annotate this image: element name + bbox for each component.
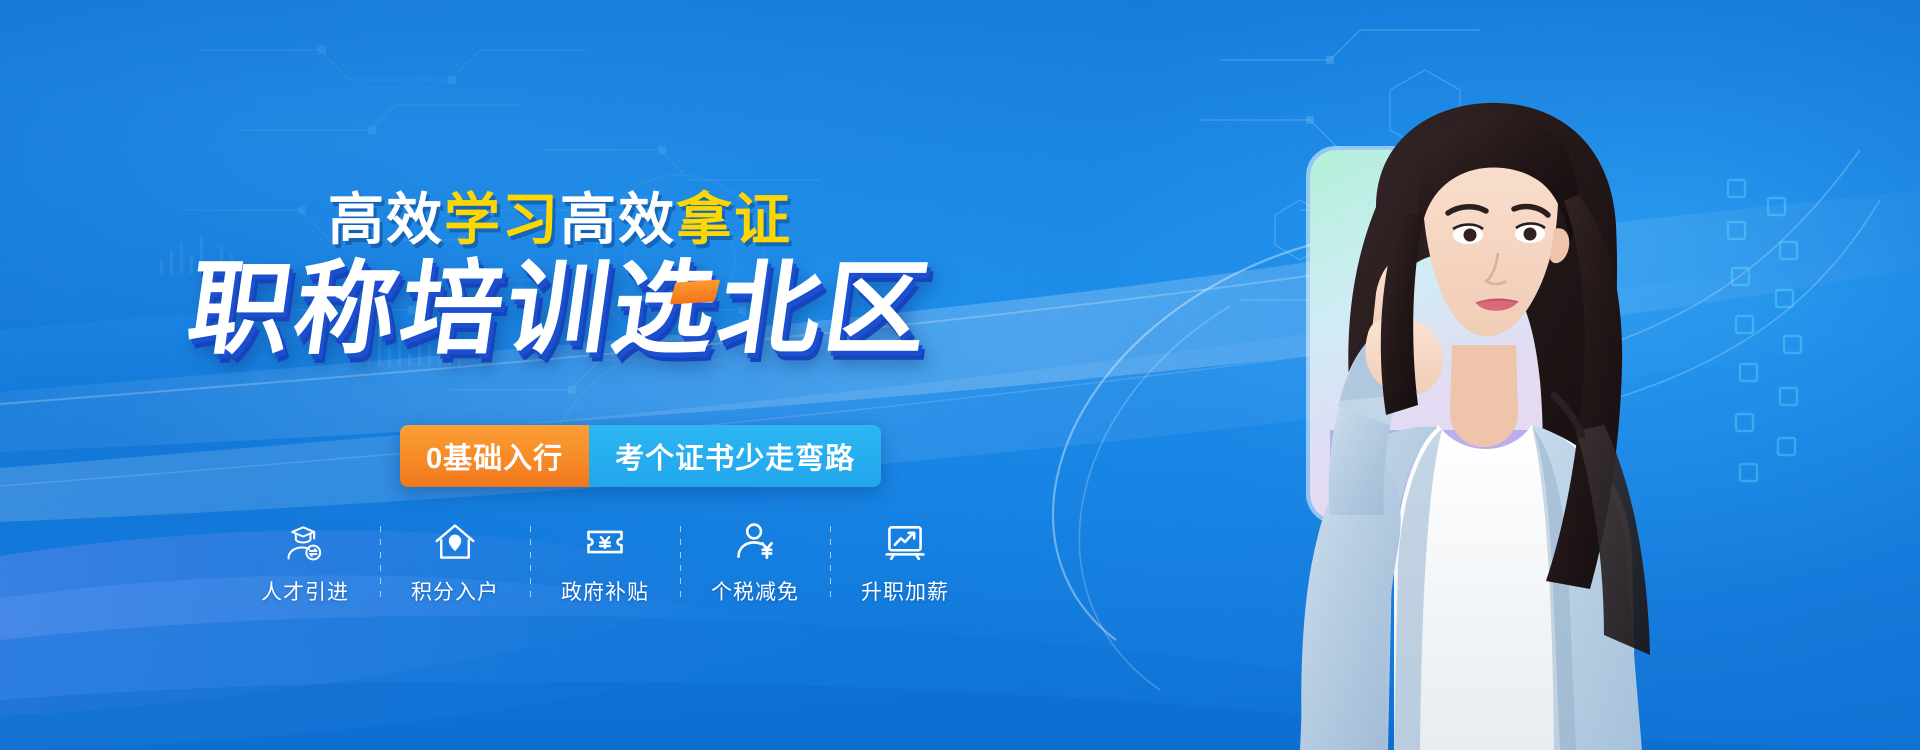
tagline-pill[interactable]: 0基础入行 考个证书少走弯路 xyxy=(400,425,881,487)
graduate-exchange-icon xyxy=(283,520,327,564)
feature-divider-3 xyxy=(680,526,681,600)
instructor-photo xyxy=(1180,95,1740,750)
feature-divider-4 xyxy=(830,526,831,600)
headline-sub-seg-1: 学习 xyxy=(444,188,560,251)
headline-main-text: 职称培训选北区 xyxy=(182,258,938,360)
headline-subtitle: 高效学习高效拿证 xyxy=(0,192,1120,248)
headline-sub-seg-2: 高效 xyxy=(560,188,676,251)
feature-item-promotion[interactable]: 升职加薪 xyxy=(845,520,965,606)
feature-divider-2 xyxy=(530,526,531,600)
banner-content: 高效学习高效拿证 职称培训选北区 0基础入行 考个证书少走弯路 xyxy=(0,0,1120,750)
headline-sub-seg-3: 拿证 xyxy=(676,188,792,251)
tagline-description[interactable]: 考个证书少走弯路 xyxy=(589,425,881,487)
feature-item-residency[interactable]: 积分入户 xyxy=(395,520,515,606)
feature-label-tax: 个税减免 xyxy=(711,576,799,606)
headline-sub-seg-0: 高效 xyxy=(328,188,444,251)
feature-label-subsidy: 政府补贴 xyxy=(561,576,649,606)
feature-item-tax[interactable]: 个税减免 xyxy=(695,520,815,606)
headline-orange-accent-icon xyxy=(670,279,720,304)
feature-label-talent: 人才引进 xyxy=(261,576,349,606)
feature-label-promotion: 升职加薪 xyxy=(861,576,949,606)
headline-main: 职称培训选北区 xyxy=(0,258,1120,360)
feature-list: 人才引进 积分入户 政府补贴 xyxy=(245,520,965,630)
promo-banner: 高效学习高效拿证 职称培训选北区 0基础入行 考个证书少走弯路 xyxy=(0,0,1920,750)
chart-board-up-icon xyxy=(883,520,927,564)
person-yuan-icon xyxy=(733,520,777,564)
feature-label-residency: 积分入户 xyxy=(411,576,499,606)
feature-item-subsidy[interactable]: 政府补贴 xyxy=(545,520,665,606)
feature-divider-1 xyxy=(380,526,381,600)
feature-item-talent[interactable]: 人才引进 xyxy=(245,520,365,606)
house-pin-icon xyxy=(433,520,477,564)
ticket-yuan-icon xyxy=(583,520,627,564)
tagline-badge[interactable]: 0基础入行 xyxy=(400,425,589,487)
